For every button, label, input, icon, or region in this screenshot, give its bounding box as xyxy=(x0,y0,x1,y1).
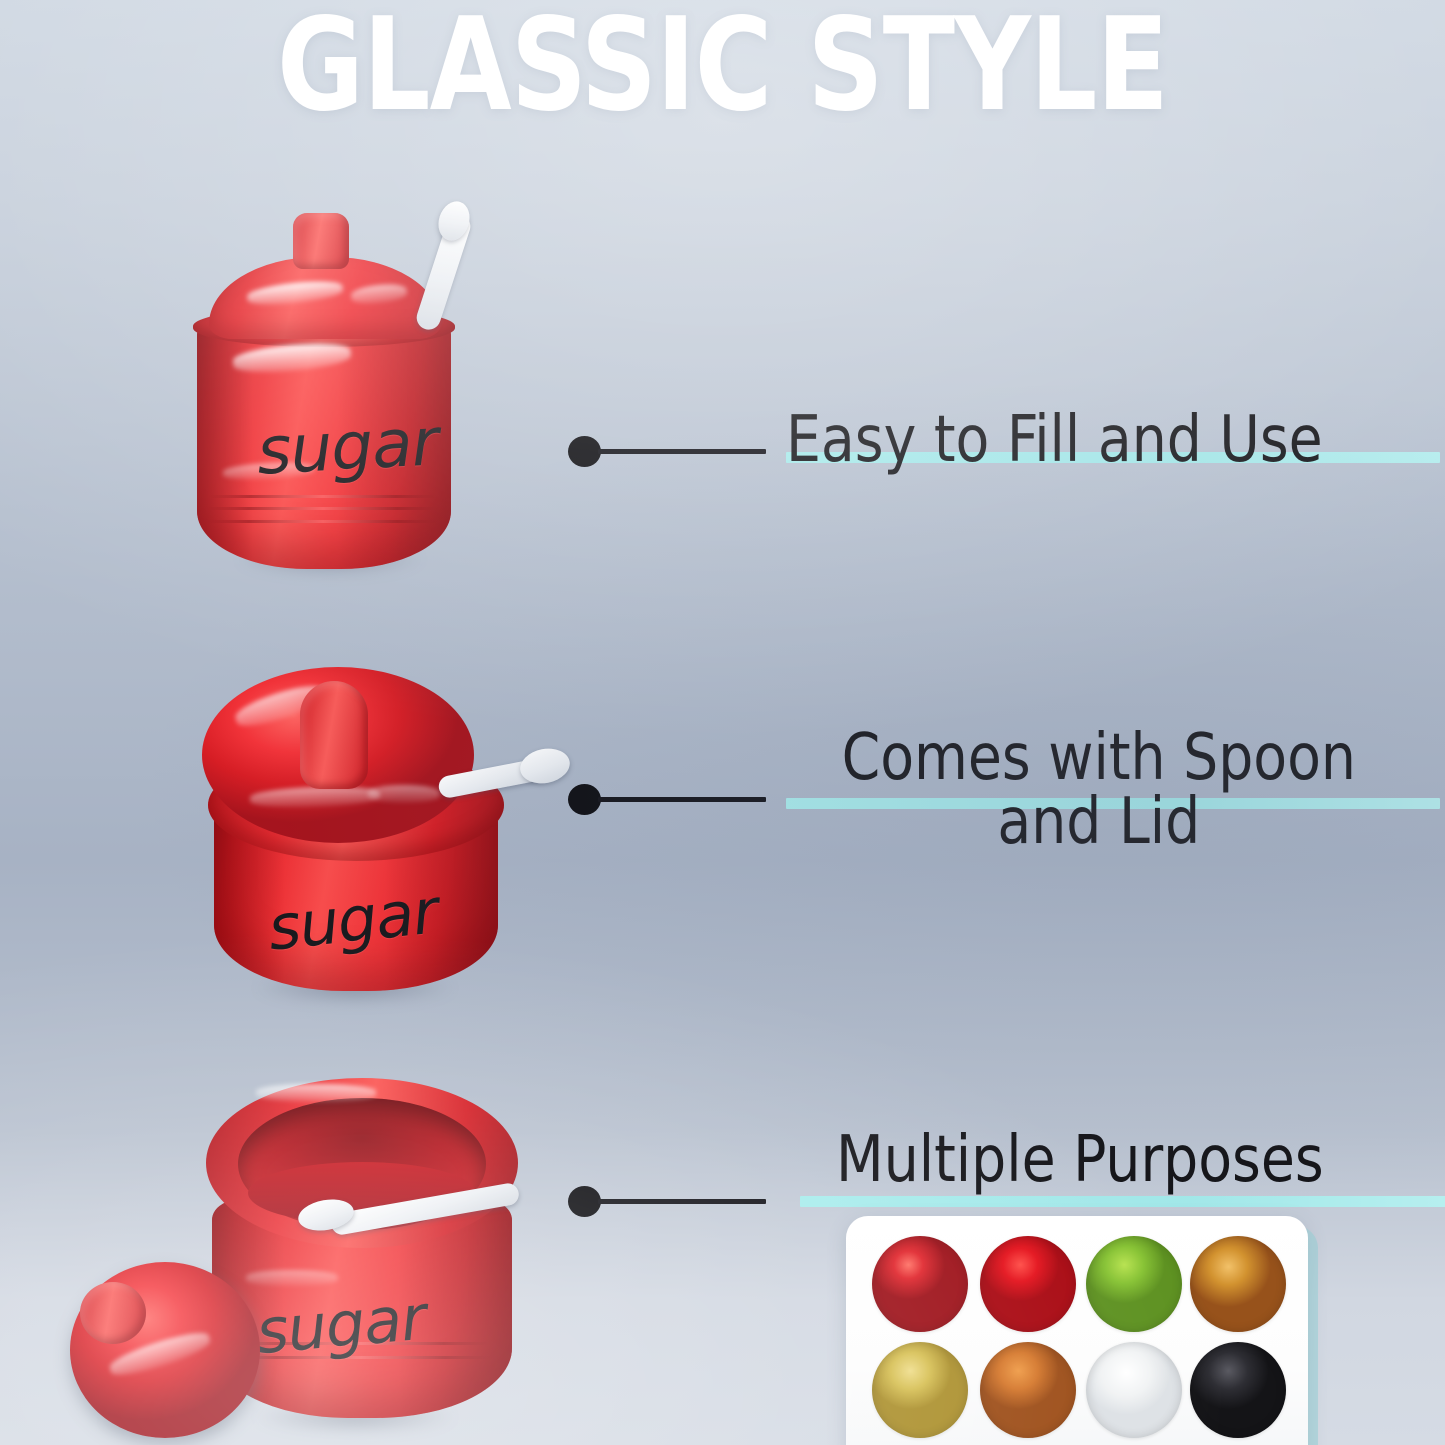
product-feature-image: GLASSIC STYLE sugar xyxy=(0,0,1445,1445)
detached-lid-knob xyxy=(80,1282,146,1344)
product-view-jar-open: sugar xyxy=(60,1070,550,1445)
page-title: GLASSIC STYLE xyxy=(58,4,1387,128)
jar-ridge xyxy=(209,495,437,498)
well-black-sesame-seeds xyxy=(1190,1342,1286,1438)
spice-tray-inset xyxy=(846,1216,1308,1445)
spoon-bowl xyxy=(434,197,475,244)
jar-gloss-highlight xyxy=(256,1084,376,1102)
lid-knob xyxy=(300,681,368,789)
feature-multiple-purposes: Multiple Purposes xyxy=(568,1186,1445,1445)
lead-line xyxy=(598,797,766,802)
lid-gloss-highlight-3 xyxy=(368,785,440,803)
bullet-dot-icon xyxy=(568,784,601,815)
well-red-chili-sauce xyxy=(980,1236,1076,1332)
feature-easy-fill: Easy to Fill and Use xyxy=(568,436,1438,526)
feature-label: Easy to Fill and Use xyxy=(786,408,1323,472)
product-view-jar-closed-top: sugar xyxy=(190,645,570,1025)
bullet-dot-icon xyxy=(568,1186,601,1217)
well-green-matcha-powder xyxy=(1086,1236,1182,1332)
jar-gloss-highlight-2 xyxy=(246,1270,338,1286)
well-yellow-mustard-seeds xyxy=(872,1342,968,1438)
jar-label-text: sugar xyxy=(255,403,439,489)
bullet-dot-icon xyxy=(568,436,601,467)
well-dried-chili-flakes xyxy=(1190,1236,1286,1332)
feature-label: Comes with Spoon and Lid xyxy=(782,726,1416,854)
jar-label-text: sugar xyxy=(253,1281,428,1368)
well-orange-chili-powder xyxy=(980,1342,1076,1438)
lid-knob xyxy=(293,213,349,269)
highlight-bar xyxy=(800,1196,1445,1207)
jar-ridge xyxy=(207,507,439,510)
lead-line xyxy=(598,1199,766,1204)
feature-spoon-and-lid: Comes with Spoon and Lid xyxy=(568,784,1438,934)
well-white-salt xyxy=(1086,1342,1182,1438)
feature-label: Multiple Purposes xyxy=(836,1128,1324,1192)
jar-ridge xyxy=(207,520,439,523)
product-view-jar-closed-front: sugar xyxy=(175,195,525,590)
well-chopped-red-chili xyxy=(872,1236,968,1332)
lead-line xyxy=(598,449,766,454)
